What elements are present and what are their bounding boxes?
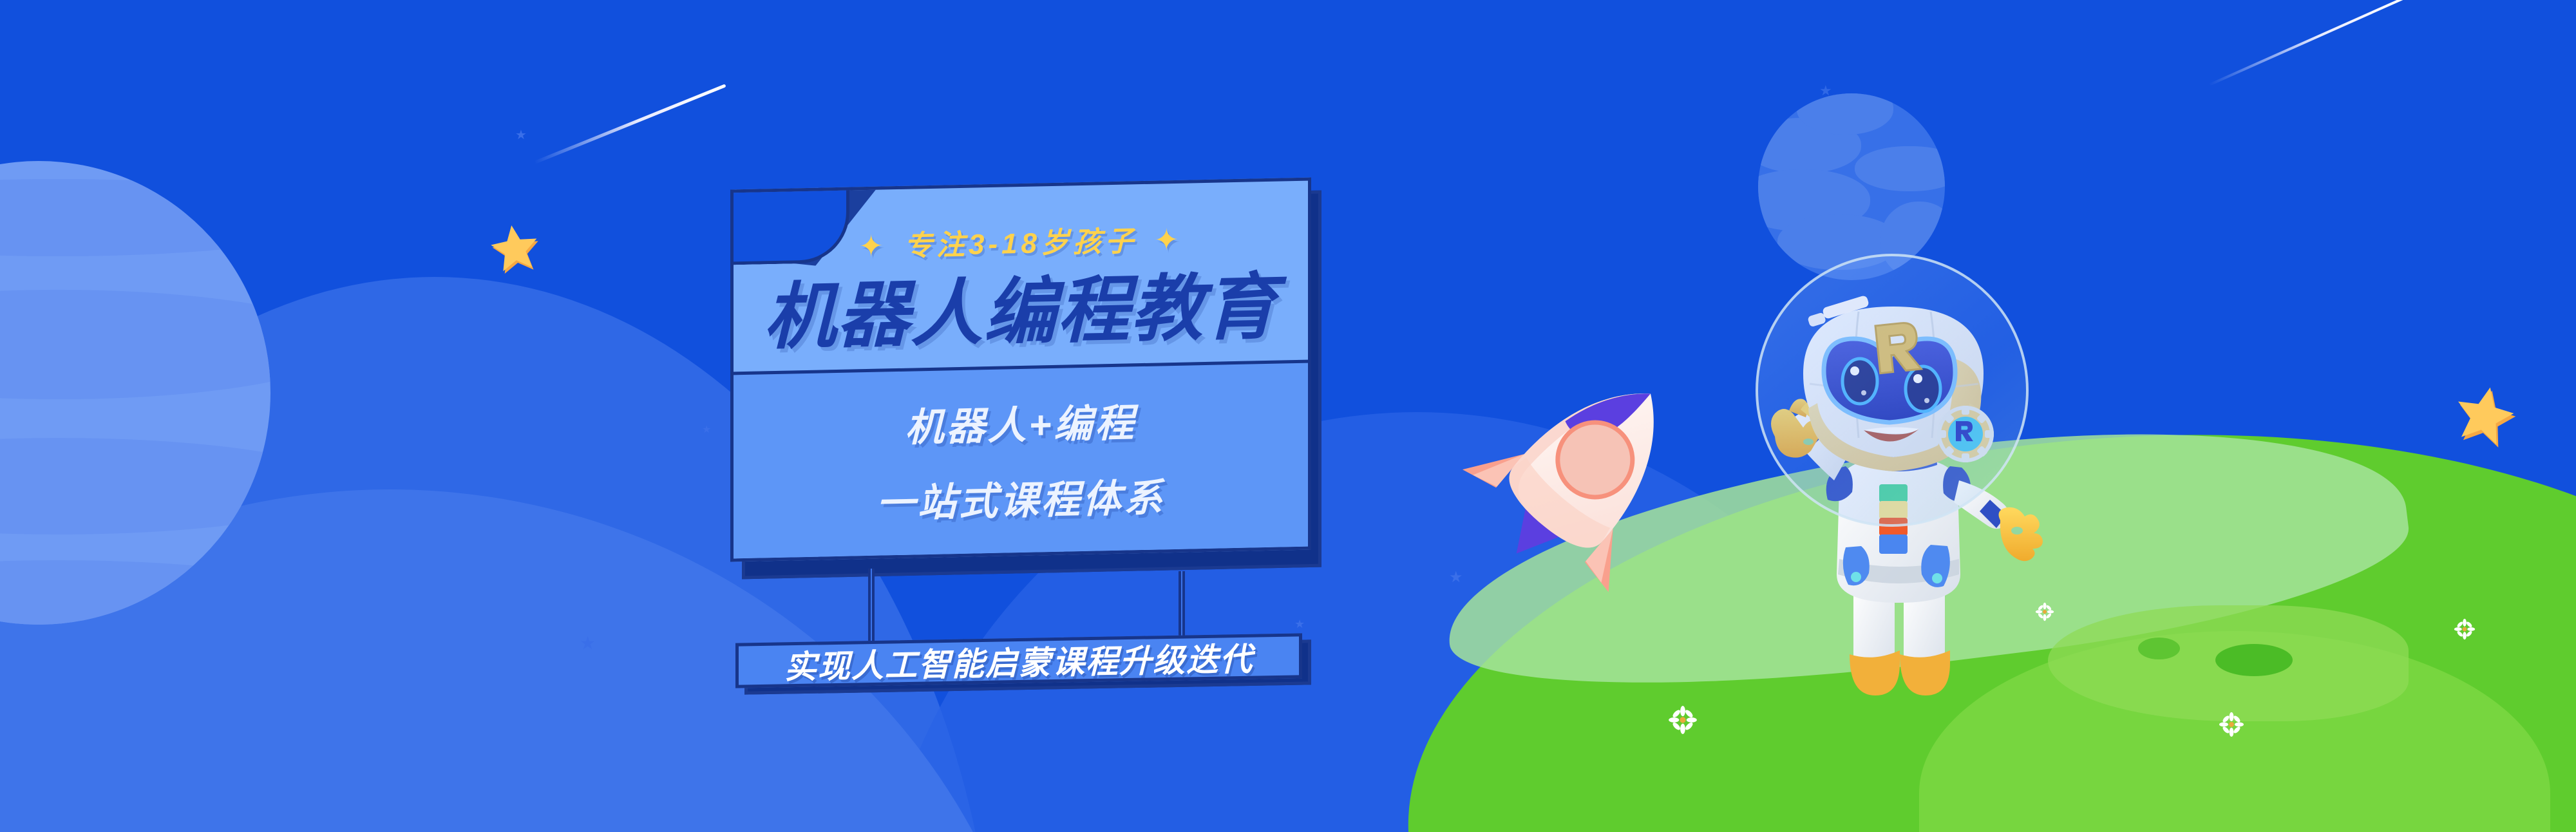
robot-astronaut-mascot (1726, 245, 2061, 721)
star-icon-dim-4: ★ (702, 425, 711, 435)
bottom-bar-text: 实现人工智能启蒙课程升级迭代 (784, 634, 1253, 688)
star-icon-dim-9: ★ (1819, 84, 1832, 98)
signboard-leg-left (868, 569, 875, 645)
banner-root: ★ ★ ★ ★ ★ ★ ★ ★ ★ (0, 0, 2576, 832)
signboard-subtitle-2: 一站式课程体系 (734, 464, 1308, 532)
signboard-subtitle-zone: 机器人+编程 一站式课程体系 (734, 366, 1308, 559)
rocket-illustration (1426, 335, 1736, 618)
bottom-bar: 实现人工智能启蒙课程升级迭代 (735, 633, 1302, 688)
signboard-subtitle-1: 机器人+编程 (734, 388, 1308, 457)
signboard-title: 机器人编程教育 (734, 248, 1308, 364)
star-icon-dim-1: ★ (515, 129, 527, 142)
signboard: ✦专注3-18岁孩子✦ 机器人编程教育 机器人+编程 一站式课程体系 实现人工智… (728, 184, 1340, 692)
daisy-icon-2 (2219, 712, 2244, 741)
daisy-icon-3 (2454, 618, 2476, 643)
star-icon-dim-6: ★ (580, 634, 596, 652)
green-hill-patch-1 (2215, 644, 2293, 676)
signboard-panel: ✦专注3-18岁孩子✦ 机器人编程教育 机器人+编程 一站式课程体系 (730, 178, 1311, 562)
green-hill-patch-2 (2138, 638, 2180, 659)
daisy-icon-1 (1668, 705, 1698, 738)
